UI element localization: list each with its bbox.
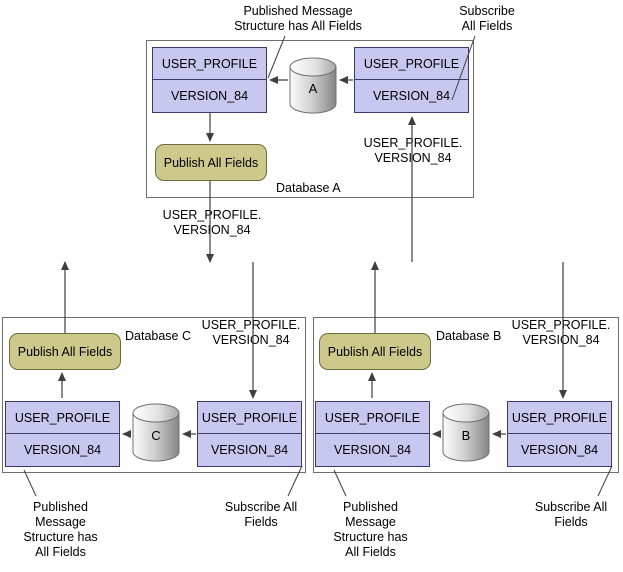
entity-version: VERSION_84 — [508, 434, 611, 466]
entity-a-right[interactable]: USER_PROFILE VERSION_84 — [354, 47, 469, 113]
cylinder-a-label: A — [289, 81, 337, 96]
entity-version: VERSION_84 — [198, 434, 301, 466]
leader-published-b — [334, 470, 346, 496]
leader-published-c — [24, 470, 36, 496]
annotation-message-a-inbound: USER_PROFILE. VERSION_84 — [353, 136, 473, 166]
entity-c-left[interactable]: USER_PROFILE VERSION_84 — [5, 401, 120, 467]
cylinder-b-label: B — [442, 428, 490, 443]
annotation-message-c-inbound: USER_PROFILE. VERSION_84 — [191, 318, 311, 348]
publish-box-c[interactable]: Publish All Fields — [9, 333, 121, 370]
entity-version: VERSION_84 — [316, 434, 429, 466]
annotation-subscribe-b: Subscribe All Fields — [516, 500, 623, 530]
database-a-caption: Database A — [276, 181, 341, 195]
entity-table-name: USER_PROFILE — [508, 402, 611, 434]
entity-c-right[interactable]: USER_PROFILE VERSION_84 — [197, 401, 302, 467]
entity-a-left[interactable]: USER_PROFILE VERSION_84 — [152, 47, 267, 113]
entity-version: VERSION_84 — [355, 80, 468, 112]
publish-box-a[interactable]: Publish All Fields — [155, 144, 267, 181]
entity-table-name: USER_PROFILE — [316, 402, 429, 434]
annotation-published-message-b: Published Message Structure has All Fiel… — [313, 500, 428, 560]
entity-version: VERSION_84 — [153, 80, 266, 112]
annotation-published-message-top: Published Message Structure has All Fiel… — [198, 4, 398, 34]
entity-table-name: USER_PROFILE — [355, 48, 468, 80]
entity-table-name: USER_PROFILE — [6, 402, 119, 434]
database-c-caption: Database C — [125, 329, 191, 343]
annotation-subscribe-c: Subscribe All Fields — [206, 500, 316, 530]
entity-table-name: USER_PROFILE — [198, 402, 301, 434]
annotation-published-message-c: Published Message Structure has All Fiel… — [3, 500, 118, 560]
diagram-canvas: Database A USER_PROFILE VERSION_84 USER_… — [0, 0, 623, 572]
cylinder-database-c: C — [132, 403, 180, 463]
annotation-subscribe-top: Subscribe All Fields — [432, 4, 542, 34]
entity-b-right[interactable]: USER_PROFILE VERSION_84 — [507, 401, 612, 467]
entity-b-left[interactable]: USER_PROFILE VERSION_84 — [315, 401, 430, 467]
publish-box-b[interactable]: Publish All Fields — [319, 333, 431, 370]
cylinder-c-label: C — [132, 428, 180, 443]
cylinder-database-b: B — [442, 403, 490, 463]
database-b-caption: Database B — [436, 329, 501, 343]
entity-version: VERSION_84 — [6, 434, 119, 466]
entity-table-name: USER_PROFILE — [153, 48, 266, 80]
annotation-message-a-outbound: USER_PROFILE. VERSION_84 — [152, 208, 272, 238]
annotation-message-b-inbound: USER_PROFILE. VERSION_84 — [501, 318, 621, 348]
cylinder-database-a: A — [289, 57, 337, 114]
